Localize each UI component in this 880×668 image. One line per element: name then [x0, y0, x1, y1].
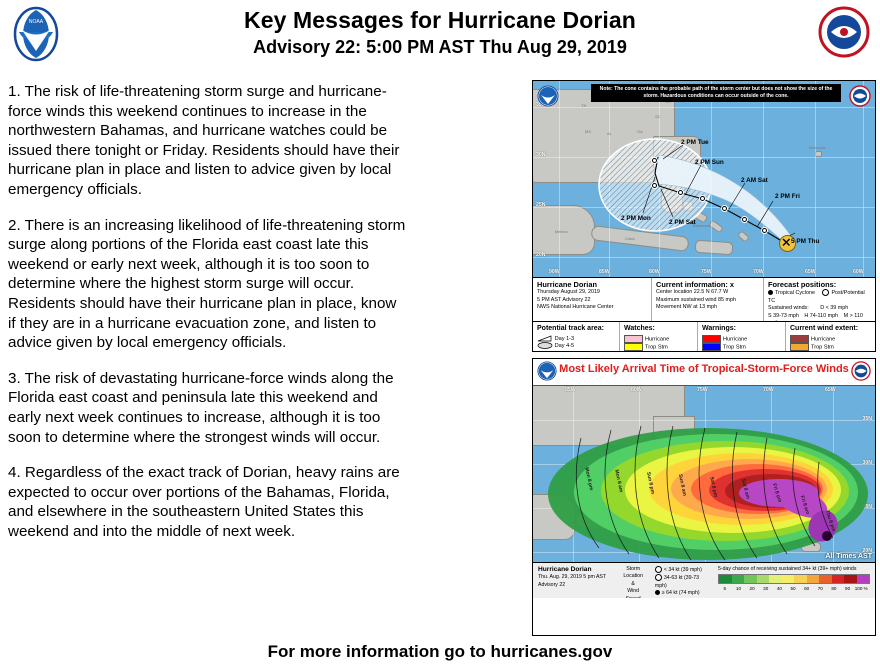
key-message-4: 4. Regardless of the exact track of Dori… — [8, 463, 408, 541]
scale-swatch-2 — [732, 575, 745, 583]
max-sustained-wind: Maximum sustained wind 85 mph — [656, 297, 759, 304]
forecast-point-sun-am — [699, 195, 706, 202]
scale-num-10: 10 — [732, 585, 746, 592]
center-location: Center location 22.5 N 67.7 W — [656, 289, 759, 296]
arrival-time-panel: Most Likely Arrival Time of Tropical-Sto… — [532, 358, 876, 636]
cone-note: Note: The cone contains the probable pat… — [591, 84, 841, 102]
scale-swatch-9 — [819, 575, 832, 583]
forecast-point-mon — [651, 182, 658, 189]
track-label-mon: 2 PM Mon — [621, 215, 651, 222]
forecast-point-fri — [761, 227, 768, 234]
cone-info-row: Hurricane Dorian Thursday August 29, 201… — [533, 277, 875, 321]
wind-ts-item: Trop Stm — [790, 343, 834, 351]
open-circle-icon-2 — [655, 566, 662, 573]
warn-ts-item: Trop Stm — [702, 343, 746, 351]
scale-num-5: 5 — [718, 585, 732, 592]
key-messages-list: 1. The risk of life-threatening storm su… — [8, 82, 408, 557]
key-message-2: 2. There is an increasing likelihood of … — [8, 216, 408, 353]
wind-class-h: H 74-110 mph — [804, 313, 838, 319]
scale-num-50: 50 — [786, 585, 800, 592]
storm-location-labels: Storm Location & Wind Speed — [616, 563, 649, 598]
scale-num-70: 70 — [813, 585, 827, 592]
nws-logo-icon-small-2 — [851, 361, 871, 381]
scale-title: 5-day chance of receiving sustained 34+ … — [718, 566, 870, 573]
filled-circle-icon — [768, 290, 773, 295]
current-information-block: Current information: x Center location 2… — [651, 278, 763, 321]
track-label-thu: 5 PM Thu — [791, 238, 819, 245]
storm-advisory: 5 PM AST Advisory 22 — [537, 297, 647, 304]
arrival-storm-block: Hurricane Dorian Thu. Aug. 29, 2019 5 pm… — [533, 563, 616, 598]
cone-map[interactable]: 35N 30N 25N 20N 90W 85W 80W 75W 70W 65W … — [533, 81, 875, 277]
scale-swatch-3 — [744, 575, 757, 583]
arrival-header: Most Likely Arrival Time of Tropical-Sto… — [533, 359, 875, 385]
open-circle-icon — [822, 289, 829, 296]
track-label-sat-pm: 2 PM Sat — [669, 219, 696, 226]
arrival-map[interactable]: 35N 30N 25N 20N 85W 80W 75W 70W 65W — [533, 385, 875, 598]
watch-ts-label: Trop Stm — [645, 344, 668, 350]
half-circle-icon — [655, 574, 662, 581]
forecast-point-sat-pm — [721, 205, 728, 212]
wind-class-d: D < 39 mph — [820, 305, 848, 311]
probability-scale-block: 5-day chance of receiving sustained 34+ … — [713, 563, 875, 598]
wind-ts-label: Trop Stm — [811, 344, 834, 350]
title-block: Key Messages for Hurricane Dorian Adviso… — [160, 6, 720, 59]
day45-legend: Day 4-5 — [537, 342, 574, 349]
wind-extent-legend: Current wind extent: Hurricane Trop Stm — [785, 322, 875, 351]
nws-logo-icon-small — [849, 85, 871, 107]
warn-hurricane-item: Hurricane — [702, 335, 747, 343]
wind-speed-label: Wind Speed — [621, 588, 644, 598]
scale-swatch-1 — [719, 575, 732, 583]
scale-swatch-8 — [807, 575, 820, 583]
arrival-storm-name: Hurricane Dorian — [538, 566, 592, 573]
cone-legend-row: Potential track area: Day 1-3 Day 4-5 Wa… — [533, 321, 875, 351]
page-subtitle: Advisory 22: 5:00 PM AST Thu Aug 29, 201… — [160, 35, 720, 59]
warn-ts-label: Trop Stm — [723, 344, 746, 350]
watches-legend: Watches: Hurricane Trop Stm — [619, 322, 697, 351]
wind-hurricane-swatch — [790, 335, 809, 343]
scale-num-90: 90 — [841, 585, 855, 592]
wind-hurricane-label: Hurricane — [811, 336, 835, 342]
scale-num-60: 60 — [800, 585, 814, 592]
forecast-point-tue — [651, 157, 658, 164]
scale-swatch-10 — [832, 575, 845, 583]
scale-num-100: 100 % — [854, 585, 868, 592]
current-information-label: Current information: — [656, 280, 728, 289]
warn-hurricane-label: Hurricane — [723, 336, 747, 342]
sustained-winds-row: Sustained winds: D < 39 mph — [768, 305, 871, 312]
scale-num-30: 30 — [759, 585, 773, 592]
sustained-winds-label: Sustained winds: — [768, 305, 809, 311]
forecast-point-sat-am — [741, 216, 748, 223]
arrival-info-row: Hurricane Dorian Thu. Aug. 29, 2019 5 pm… — [533, 562, 875, 598]
scale-swatch-4 — [757, 575, 770, 583]
forecast-positions-heading: Forecast positions: — [768, 281, 871, 288]
track-label-sun: 2 PM Sun — [695, 159, 724, 166]
wind-extent-label: Current wind extent: — [790, 325, 871, 332]
page-footer: For more information go to hurricanes.go… — [0, 642, 880, 662]
watch-hurricane-swatch — [624, 335, 643, 343]
storm-date: Thursday August 29, 2019 — [537, 289, 647, 296]
key-message-3: 3. The risk of devastating hurricane-for… — [8, 369, 408, 447]
all-times-label: All Times AST — [825, 553, 872, 560]
watch-ts-item: Trop Stm — [624, 343, 668, 351]
watch-hurricane-label: Hurricane — [645, 336, 669, 342]
track-label-fri: 2 PM Fri — [775, 193, 800, 200]
page-title: Key Messages for Hurricane Dorian — [160, 6, 720, 34]
cone-day45-icon — [537, 342, 553, 349]
wind-ts-swatch — [790, 343, 809, 351]
svg-text:NOAA: NOAA — [29, 19, 44, 25]
wind-ge64-row: ≥ 64 kt (74 mph) — [655, 590, 708, 597]
nws-logo-icon — [818, 6, 870, 58]
noaa-logo-icon-small — [537, 85, 559, 107]
cone-day13-icon — [537, 335, 553, 342]
forecast-symbols-row: Tropical Cyclone Post/Potential TC — [768, 289, 871, 305]
scale-swatch-11 — [844, 575, 857, 583]
arrival-storm-advisory: Advisory 22 — [538, 582, 611, 589]
scale-swatch-7 — [794, 575, 807, 583]
noaa-logo-icon: NOAA — [8, 6, 64, 62]
warn-ts-swatch — [702, 343, 721, 351]
day45-label: Day 4-5 — [555, 343, 575, 349]
potential-track-area-label: Potential track area: — [537, 325, 615, 332]
scale-swatch-12 — [857, 575, 870, 583]
storm-info-block: Hurricane Dorian Thursday August 29, 201… — [533, 278, 651, 321]
scale-swatch-5 — [769, 575, 782, 583]
scale-num-20: 20 — [745, 585, 759, 592]
watch-hurricane-item: Hurricane — [624, 335, 669, 343]
page-header: NOAA Key Messages for Hurricane Dorian A… — [0, 0, 880, 72]
ampersand-label: & — [621, 581, 644, 588]
arrival-title: Most Likely Arrival Time of Tropical-Sto… — [533, 363, 875, 375]
forecast-point-sun — [677, 189, 684, 196]
wind-ge64-label: ≥ 64 kt (74 mph) — [662, 590, 700, 596]
wind-hurricane-item: Hurricane — [790, 335, 835, 343]
wind-lt34-row: < 34 kt (39 mph) — [655, 566, 708, 574]
wind-mid-row: 34-63 kt (39-73 mph) — [655, 574, 708, 590]
wind-lt34-label: < 34 kt (39 mph) — [664, 567, 702, 573]
warnings-legend: Warnings: Hurricane Trop Stm — [697, 322, 785, 351]
scale-swatch-6 — [782, 575, 795, 583]
watches-label: Watches: — [624, 325, 693, 332]
warn-hurricane-swatch — [702, 335, 721, 343]
storm-name: Hurricane Dorian — [537, 281, 647, 288]
arrival-storm-date: Thu. Aug. 29, 2019 5 pm AST — [538, 574, 611, 581]
tropical-cyclone-label: Tropical Cyclone — [775, 290, 815, 296]
current-information-symbol: x — [730, 280, 734, 289]
track-label-sat-am: 2 AM Sat — [741, 177, 768, 184]
filled-circle-icon-2 — [655, 590, 660, 595]
storm-location-label: Storm Location — [621, 566, 644, 581]
scale-num-40: 40 — [773, 585, 787, 592]
movement: Movement NW at 13 mph — [656, 304, 759, 311]
cone-forecast-panel: 35N 30N 25N 20N 90W 85W 80W 75W 70W 65W … — [532, 80, 876, 352]
current-information-heading: Current information: x — [656, 281, 759, 288]
forecast-positions-block: Forecast positions: Tropical Cyclone Pos… — [763, 278, 875, 321]
scale-num-80: 80 — [827, 585, 841, 592]
track-label-tue: 2 PM Tue — [681, 139, 709, 146]
wind-speed-legend: < 34 kt (39 mph) 34-63 kt (39-73 mph) ≥ … — [650, 563, 713, 598]
probability-color-scale — [718, 574, 870, 584]
wind-class-s: S 39-73 mph — [768, 313, 799, 319]
watch-ts-swatch — [624, 343, 643, 351]
storm-agency: NWS National Hurricane Center — [537, 304, 647, 311]
warnings-label: Warnings: — [702, 325, 781, 332]
track-line — [533, 81, 875, 277]
day13-legend: Day 1-3 — [537, 335, 574, 342]
potential-track-area-legend: Potential track area: Day 1-3 Day 4-5 — [533, 322, 619, 351]
probability-scale-numbers: 5 10 20 30 40 50 60 70 80 90 100 % — [718, 585, 868, 592]
key-message-1: 1. The risk of life-threatening storm su… — [8, 82, 408, 200]
